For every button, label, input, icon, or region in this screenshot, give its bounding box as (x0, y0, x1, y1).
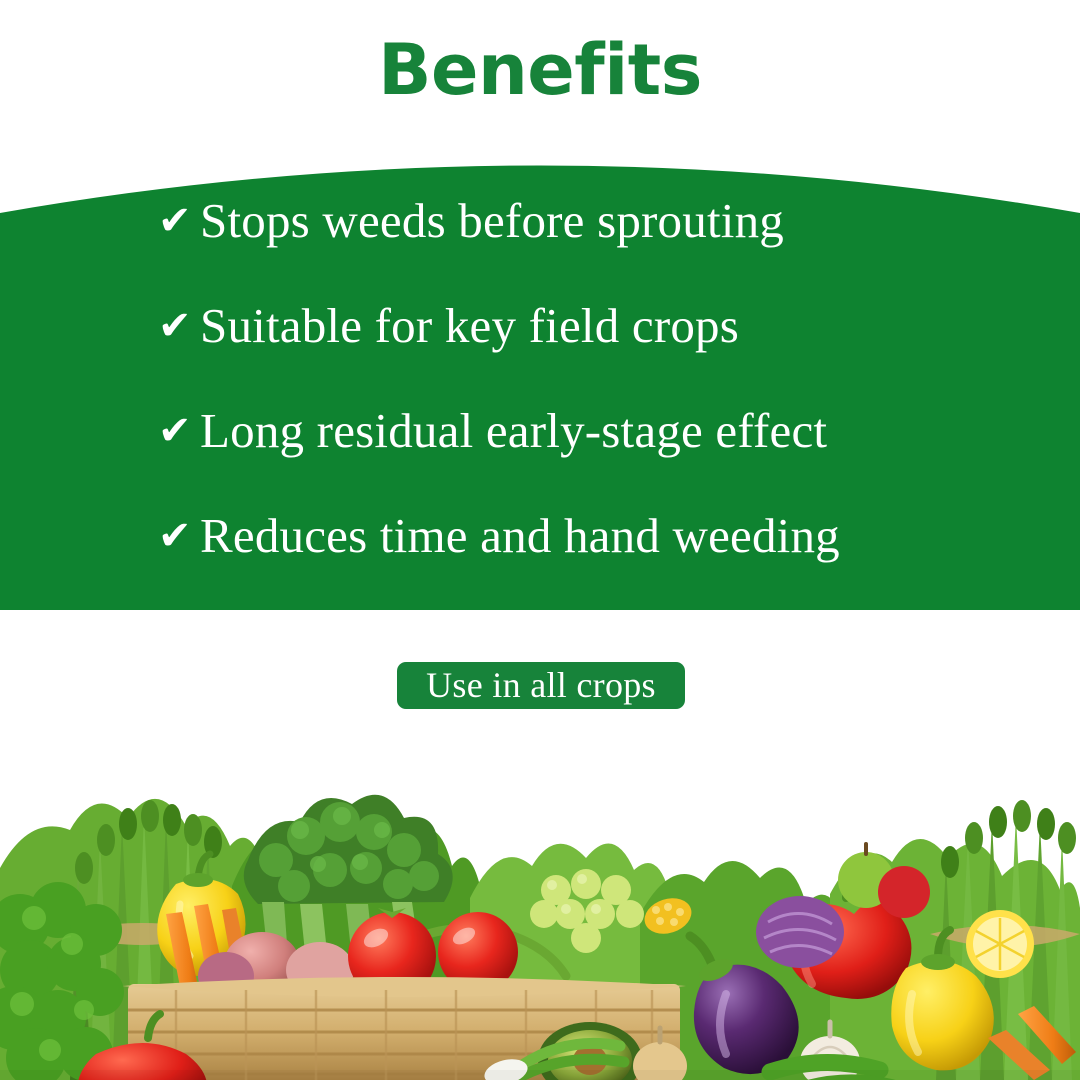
check-icon: ✔ (158, 201, 200, 241)
benefit-label: Reduces time and hand weeding (200, 511, 840, 560)
title-banner: Benefits (0, 0, 1080, 136)
benefits-list: ✔ Stops weeds before sprouting ✔ Suitabl… (0, 196, 1080, 616)
benefit-label: Long residual early-stage effect (200, 406, 827, 455)
benefit-label: Suitable for key field crops (200, 301, 739, 350)
benefit-item-4: ✔ Reduces time and hand weeding (0, 511, 1080, 616)
page-title: Benefits (378, 31, 702, 105)
check-icon: ✔ (158, 516, 200, 556)
check-icon: ✔ (158, 411, 200, 451)
benefits-poster: Benefits ✔ Stops weeds before sprouting … (0, 0, 1080, 1080)
produce-photo (0, 718, 1080, 1080)
badge-label: Use in all crops (426, 667, 656, 705)
use-in-all-crops-badge: Use in all crops (397, 662, 685, 709)
benefit-label: Stops weeds before sprouting (200, 196, 784, 245)
benefit-item-3: ✔ Long residual early-stage effect (0, 406, 1080, 511)
benefit-item-1: ✔ Stops weeds before sprouting (0, 196, 1080, 301)
check-icon: ✔ (158, 306, 200, 346)
benefit-item-2: ✔ Suitable for key field crops (0, 301, 1080, 406)
